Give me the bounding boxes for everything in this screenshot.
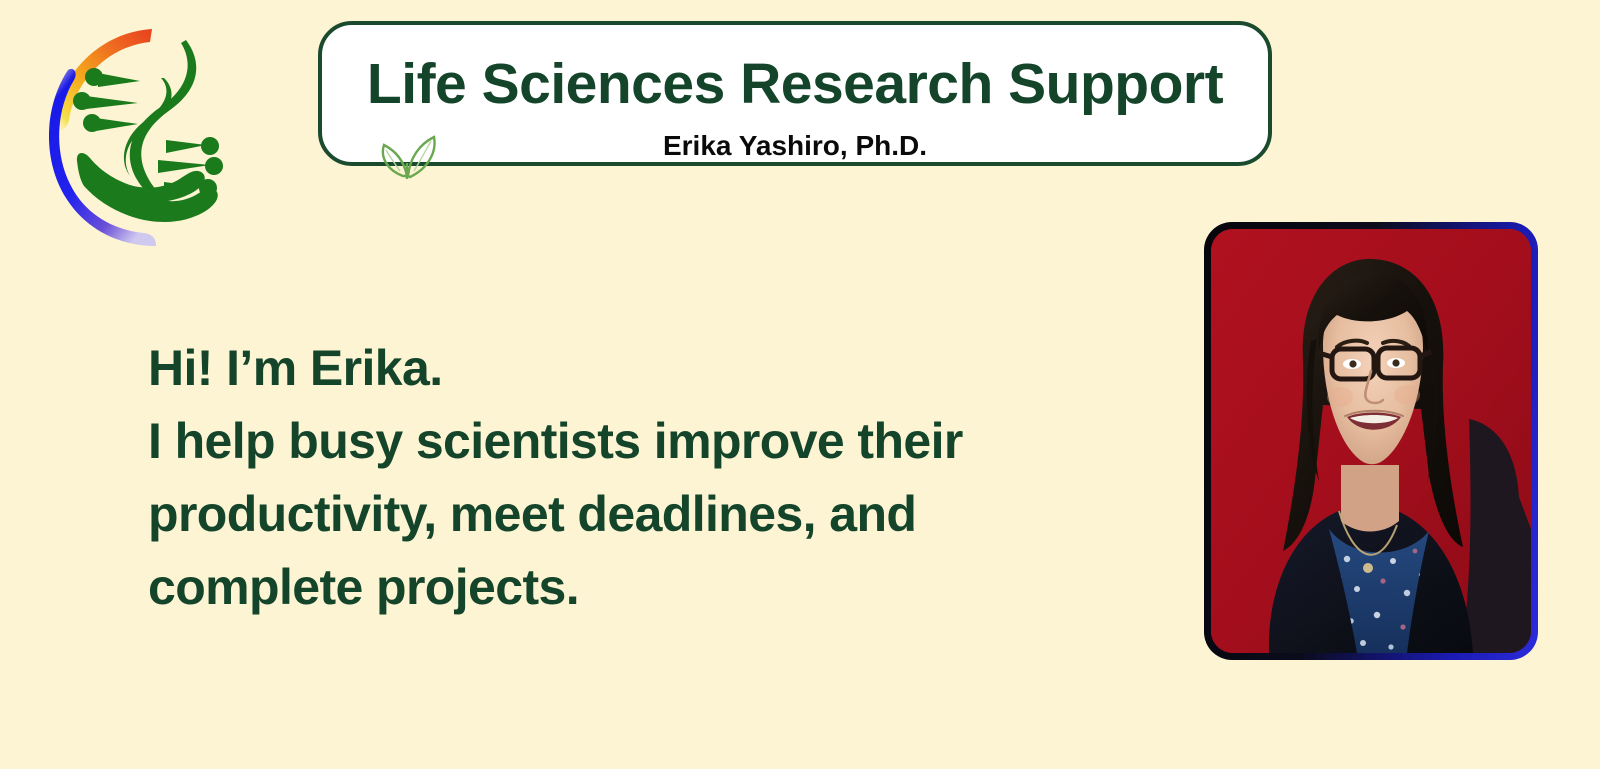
photo-pendant <box>1363 563 1373 573</box>
intro-paragraph: Hi! I’m Erika. I help busy scientists im… <box>148 332 1098 624</box>
portrait-photo-frame <box>1204 222 1538 660</box>
intro-line-1: Hi! I’m Erika. <box>148 332 1098 405</box>
intro-line-2: I help busy scientists improve their <box>148 405 1098 478</box>
intro-line-3: productivity, meet deadlines, and <box>148 478 1098 551</box>
page-title: Life Sciences Research Support <box>322 53 1268 115</box>
photo-neck <box>1341 465 1399 532</box>
intro-line-4: complete projects. <box>148 551 1098 624</box>
title-banner: Life Sciences Research Support Erika Yas… <box>318 21 1272 166</box>
page-subtitle: Erika Yashiro, Ph.D. <box>322 129 1268 163</box>
life-sciences-research-support-logo <box>38 18 248 258</box>
erika-yashiro-portrait <box>1211 229 1531 653</box>
promo-card: Life Sciences Research Support Erika Yas… <box>0 0 1600 769</box>
